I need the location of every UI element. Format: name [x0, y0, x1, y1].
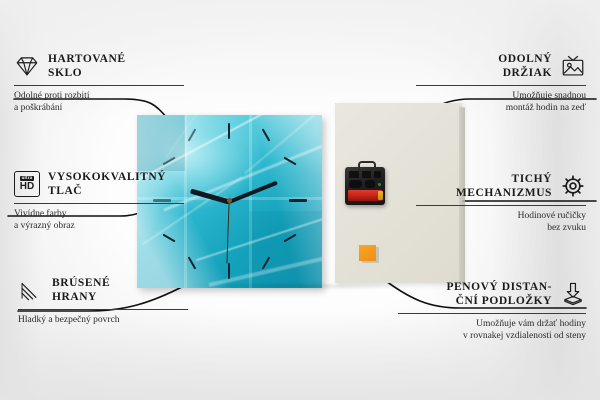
feature-title-line1: TICHÝ [456, 172, 552, 186]
feature-desc-line1: Hladký a bezpečný povrch [18, 314, 188, 326]
feature-title-line1: PENOVÝ DISTAN- [446, 280, 552, 294]
product-photo [137, 103, 462, 290]
feature-title-line2: TLAČ [48, 184, 166, 198]
feature-title-line2: HRANY [52, 290, 110, 304]
feature-divider [14, 85, 184, 86]
feature-desc-line1: Odolné proti rozbití [14, 90, 184, 102]
feature-desc-line1: Umožňuje vám držať hodiny [398, 318, 586, 330]
feature-divider [14, 203, 184, 204]
feature-desc-line1: Umožňuje snadnou [416, 90, 586, 102]
foam-spacer-pad [359, 245, 376, 261]
feature-title-line1: HARTOVANÉ [48, 52, 126, 66]
feature-desc-line2: a výrazný obraz [14, 220, 184, 232]
minute-hand [228, 181, 278, 204]
feature-title-line1: VYSOKOKVALITNÝ [48, 170, 166, 184]
feature-title-line1: ODOLNÝ [498, 52, 552, 66]
feature-desc-line1: Vivídne farby [14, 208, 184, 220]
feature-divider [416, 205, 586, 206]
movement-hanger [358, 161, 376, 171]
feature-title-line2: MECHANIZMUS [456, 186, 552, 200]
foam-spacer-icon [560, 281, 586, 307]
gear-icon [560, 173, 586, 199]
feature-divider [416, 85, 586, 86]
feature-title-line1: BRÚSENÉ [52, 276, 110, 290]
feature-durable-hanger: ODOLNÝ DRŽIAK Umožňuje snadnou montáž ho… [416, 52, 586, 114]
feature-desc-line2: montáž hodin na zeď [416, 102, 586, 114]
feature-tempered-glass: HARTOVANÉ SKLO Odolné proti rozbití a po… [14, 52, 184, 114]
second-hand [226, 202, 229, 264]
feature-title-line2: DRŽIAK [498, 66, 552, 80]
hands-pivot [227, 198, 232, 203]
feature-desc-line2: a poškrábání [14, 102, 184, 114]
picture-hanger-icon [560, 53, 586, 79]
feature-title-line2: ČNÍ PODLOŽKY [446, 294, 552, 308]
feature-silent-mechanism: TICHÝ MECHANIZMUS Hodinové ručičky bez z… [416, 172, 586, 234]
feature-high-quality-print: ultra HD VYSOKOKVALITNÝ TLAČ Vivídne far… [14, 170, 184, 232]
ultra-hd-icon: ultra HD [14, 171, 40, 197]
infographic-canvas: HARTOVANÉ SKLO Odolné proti rozbití a po… [0, 0, 600, 400]
feature-desc-line2: v rovnakej vzdialenosti od steny [398, 330, 586, 342]
feature-foam-spacers: PENOVÝ DISTAN- ČNÍ PODLOŽKY Umožňuje vám… [398, 280, 586, 342]
ground-edges-icon [18, 277, 44, 303]
feature-ground-edges: BRÚSENÉ HRANY Hladký a bezpečný povrch [18, 276, 188, 326]
ultra-hd-icon-large-text: HD [20, 182, 34, 192]
battery [348, 190, 382, 201]
diamond-icon [14, 53, 40, 79]
feature-desc-line1: Hodinové ručičky [416, 210, 586, 222]
clock-movement [345, 167, 385, 205]
feature-divider [18, 309, 188, 310]
feature-title-line2: SKLO [48, 66, 126, 80]
feature-desc-line2: bez zvuku [416, 222, 586, 234]
feature-divider [398, 313, 586, 314]
